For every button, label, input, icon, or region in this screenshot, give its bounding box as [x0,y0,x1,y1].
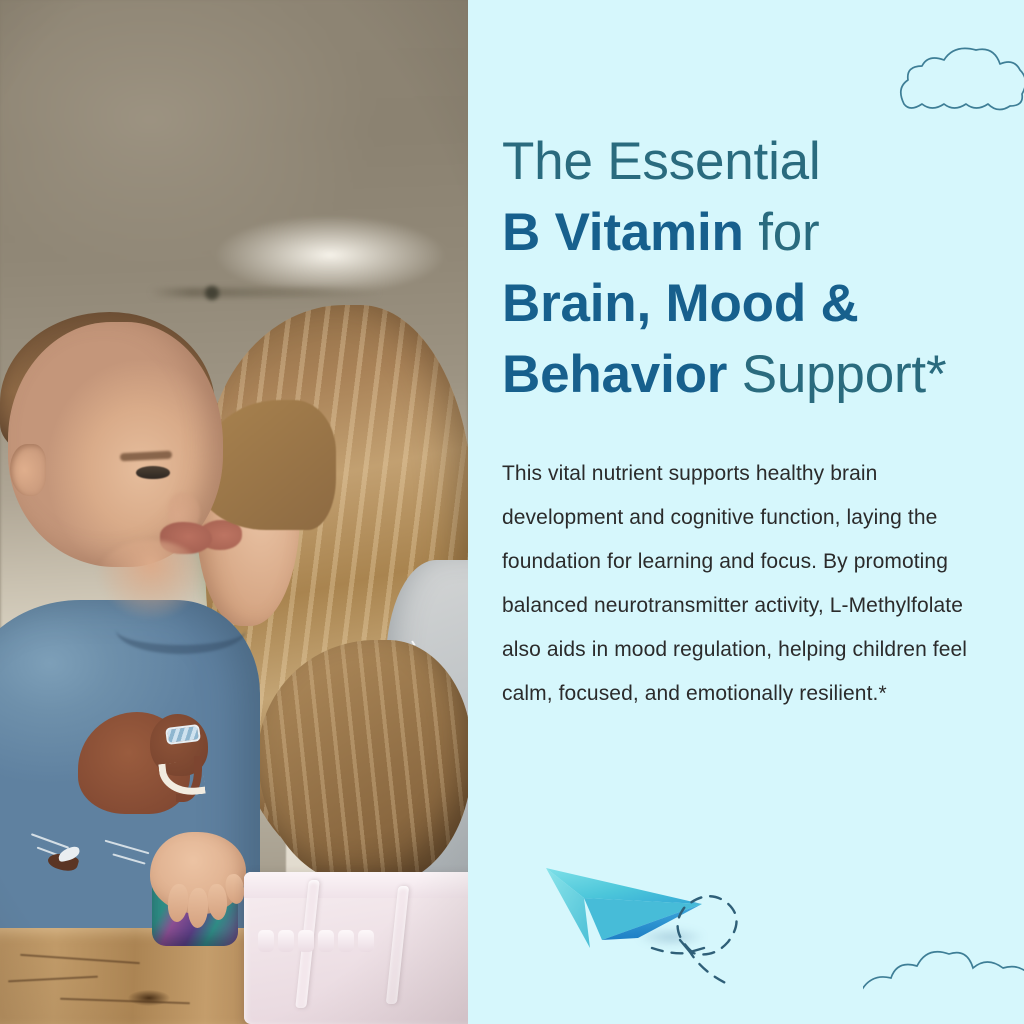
headline-line-4-light: Support* [727,345,946,404]
boy-chin [96,540,206,620]
headline-line-2: B Vitamin for [502,197,1010,268]
headline-line-4-bold: Behavior [502,345,727,404]
content-panel: The Essential B Vitamin for Brain, Mood … [468,0,1024,1024]
pink-tray-top-edge [244,872,468,898]
headline-line-4: Behavior Support* [502,339,1010,410]
pink-tray-bump [358,930,374,952]
headline-line-3: Brain, Mood & [502,268,1010,339]
cloud-icon [863,938,1024,1024]
cloud-icon [898,42,1024,114]
pink-tray-bump [278,930,294,952]
woman-hair-sweep [258,640,468,886]
background-shelf [150,288,380,297]
pink-tray-bump [318,930,334,952]
marketing-card: The Essential B Vitamin for Brain, Mood … [0,0,1024,1024]
headline-line-2-bold: B Vitamin [502,203,744,262]
boy-eye [136,466,170,479]
headline-line-1-text: The Essential [502,132,821,191]
headline-line-2-light: for [744,203,820,262]
table-knot [128,990,170,1006]
dashed-trail-icon [650,886,800,1006]
pink-tray-bump [298,930,314,952]
pink-tray-bump [258,930,274,952]
hero-photo [0,0,468,1024]
headline-line-3-bold: Brain, Mood & [502,274,859,333]
boy-ear [10,444,46,496]
body-paragraph: This vital nutrient supports healthy bra… [502,452,978,716]
headline-line-1: The Essential [502,126,1010,197]
headline: The Essential B Vitamin for Brain, Mood … [502,126,1010,410]
background-fixture-knob [205,286,219,300]
pink-tray-bump [338,930,354,952]
